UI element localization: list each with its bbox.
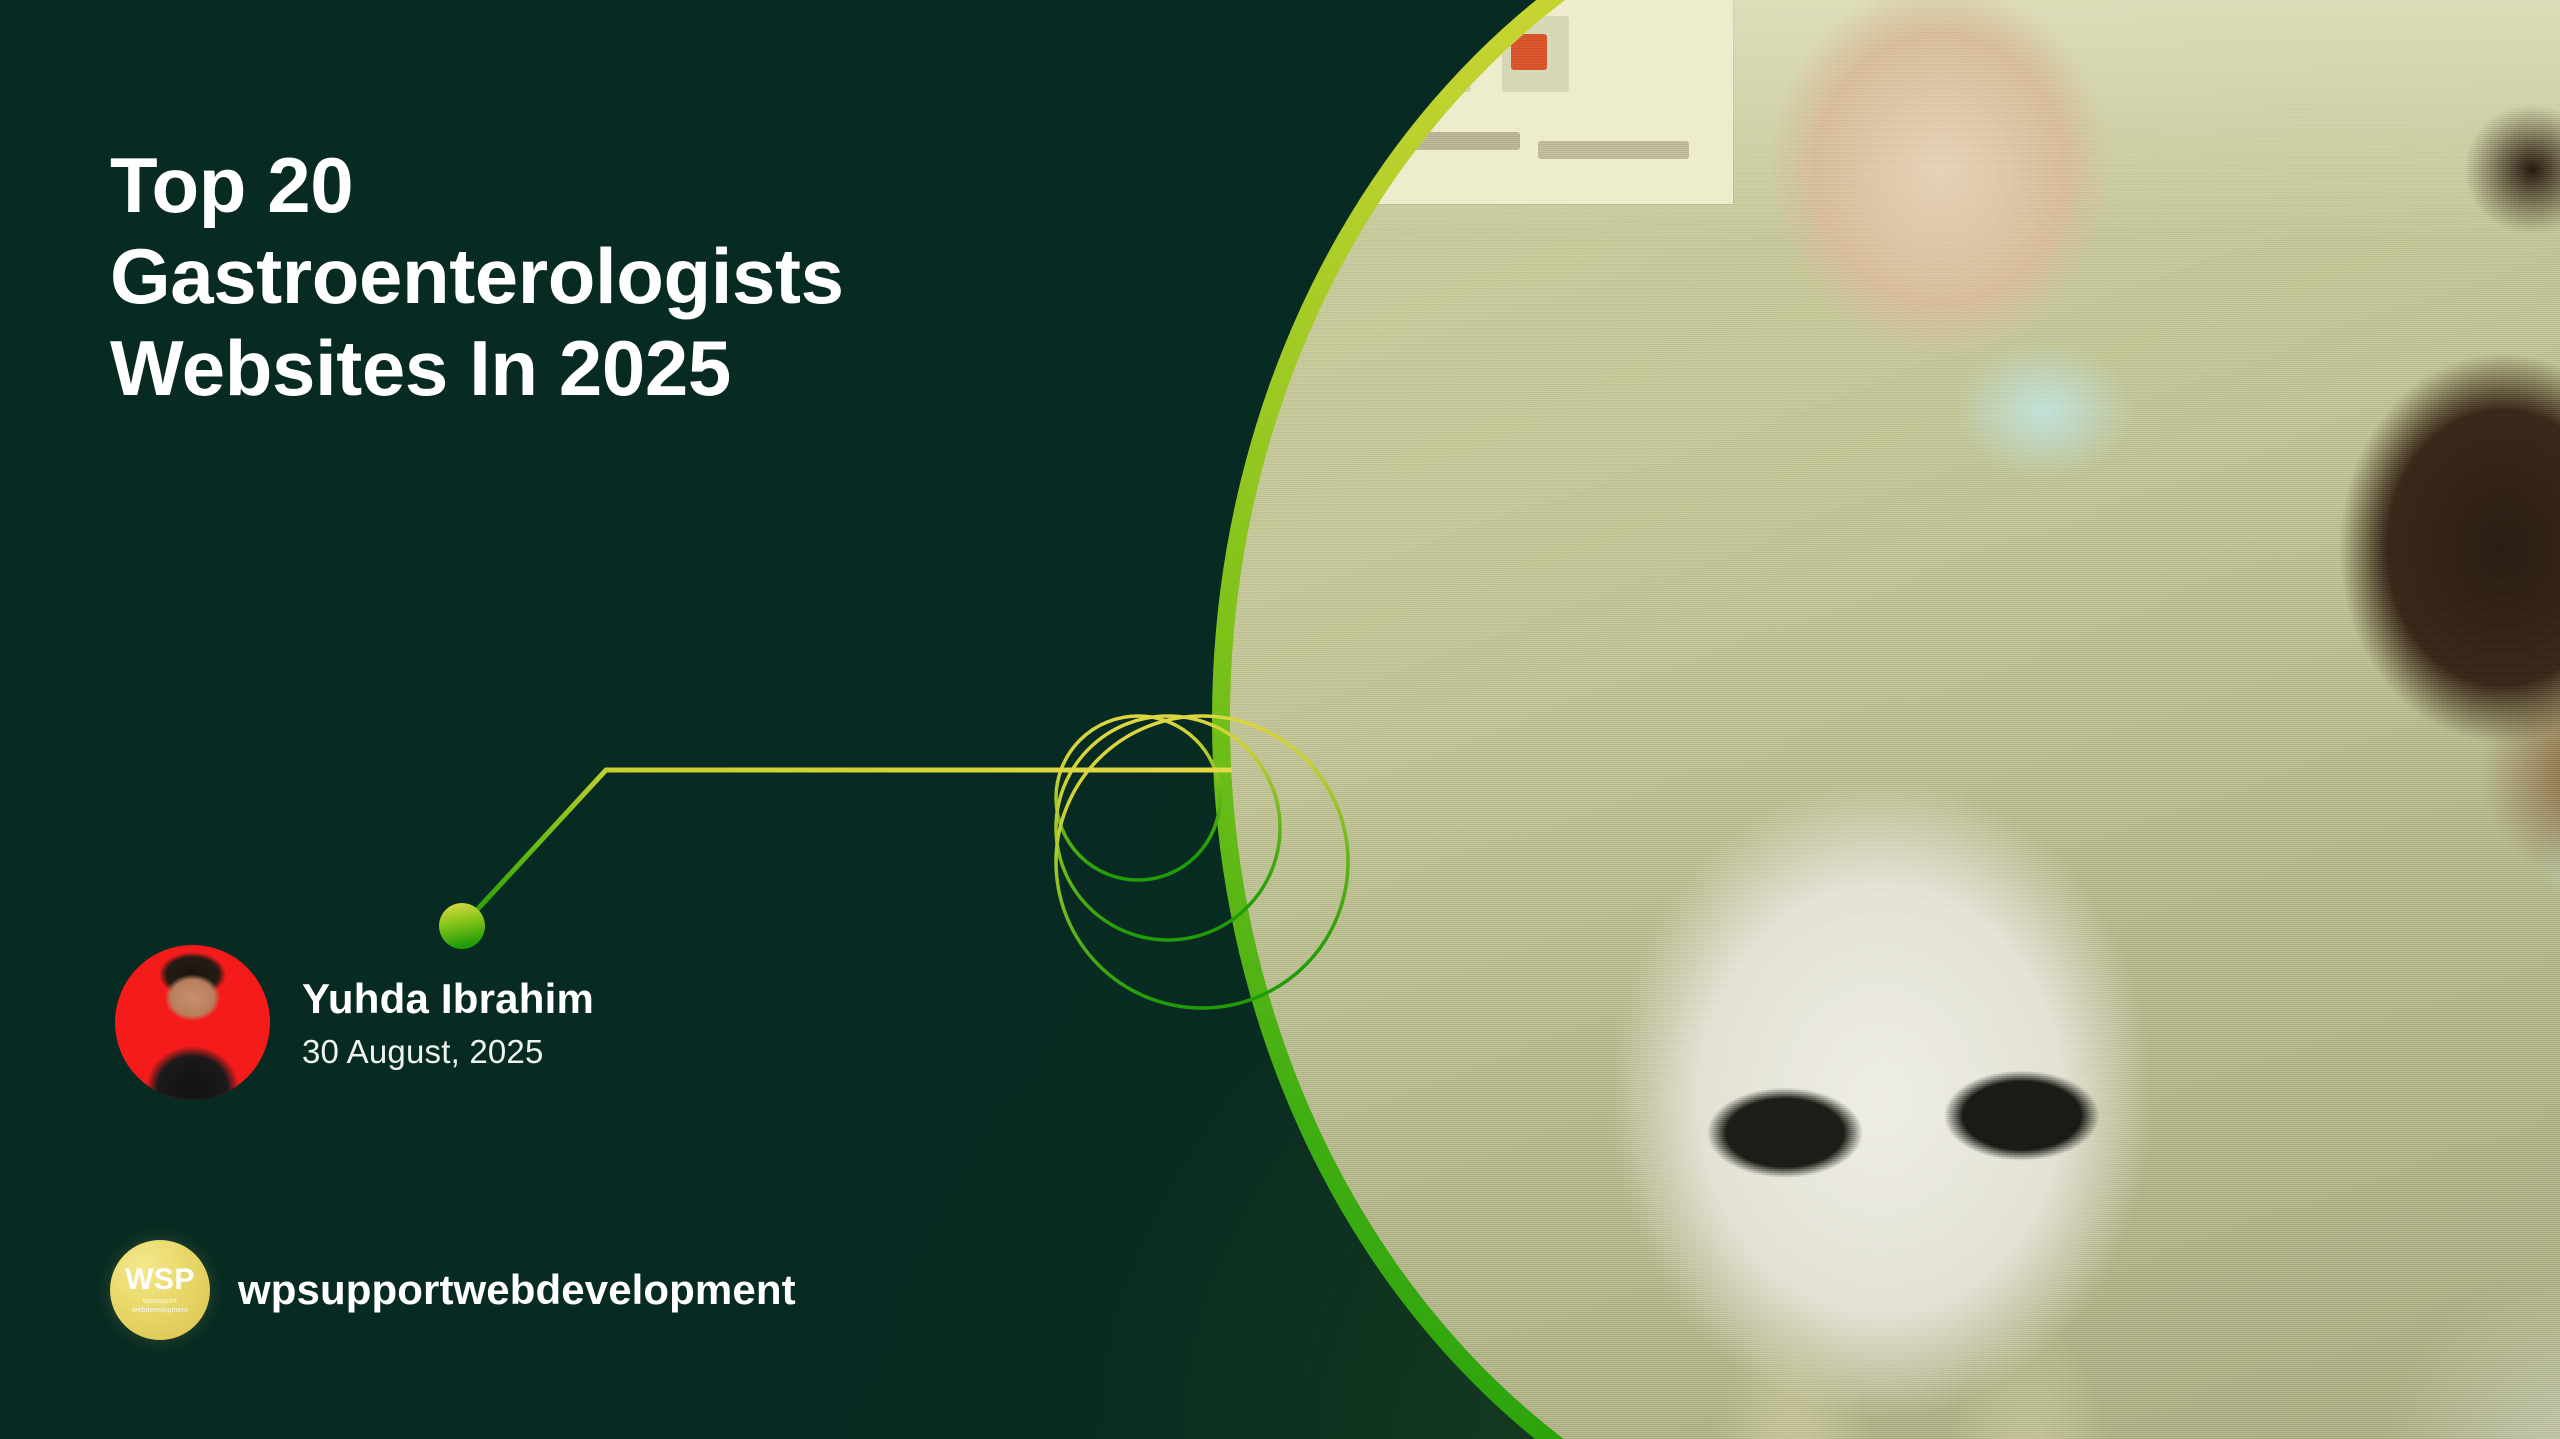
brand-block[interactable]: WSP wpsupport webdevelopment wpsupportwe… bbox=[110, 1240, 796, 1340]
wsp-logo-text: WSP bbox=[125, 1265, 195, 1295]
avatar bbox=[115, 945, 270, 1100]
author-block: Yuhda Ibrahim 30 August, 2025 bbox=[115, 945, 594, 1100]
author-name: Yuhda Ibrahim bbox=[302, 975, 594, 1023]
wsp-logo-subtext: wpsupport webdevelopment bbox=[132, 1298, 188, 1314]
connector-end-dot bbox=[439, 903, 485, 949]
title-line-2: Gastroenterologists bbox=[110, 231, 1210, 322]
poster-canvas: Top 20 Gastroenterologists Websites In 2… bbox=[0, 0, 2560, 1439]
wsp-logo-subtext-line2: webdevelopment bbox=[132, 1307, 188, 1314]
wsp-logo-subtext-line1: wpsupport bbox=[143, 1298, 177, 1305]
avatar-portrait bbox=[115, 945, 270, 1100]
author-meta: Yuhda Ibrahim 30 August, 2025 bbox=[302, 975, 594, 1071]
title-line-1: Top 20 bbox=[110, 140, 1210, 231]
brand-name: wpsupportwebdevelopment bbox=[238, 1266, 796, 1314]
title-line-3: Websites In 2025 bbox=[110, 323, 1210, 414]
page-title: Top 20 Gastroenterologists Websites In 2… bbox=[110, 140, 1210, 414]
wsp-logo-icon: WSP wpsupport webdevelopment bbox=[110, 1240, 210, 1340]
elbow-connector-line bbox=[420, 700, 1240, 980]
publish-date: 30 August, 2025 bbox=[302, 1033, 594, 1071]
